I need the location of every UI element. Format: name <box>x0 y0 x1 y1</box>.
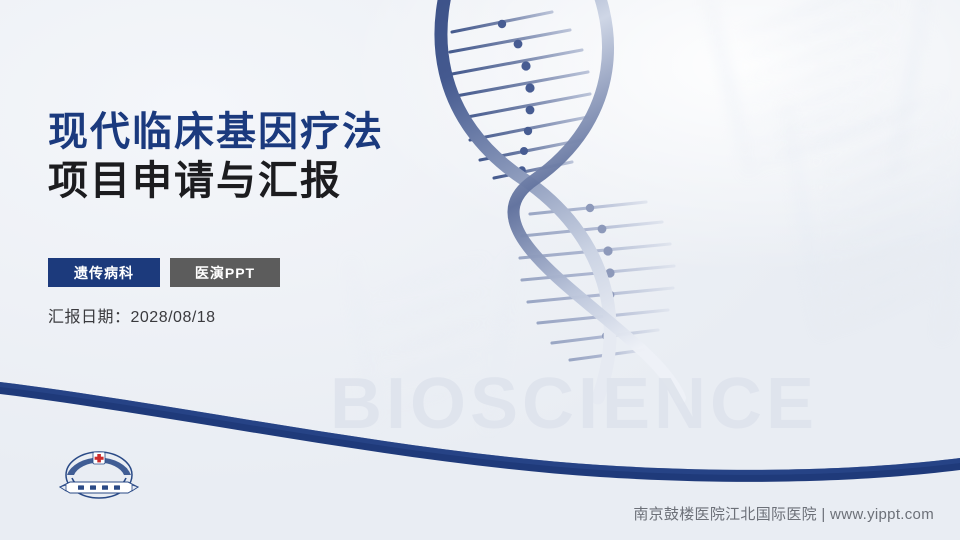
tag-badge-department[interactable]: 遗传病科 <box>48 258 160 287</box>
presentation-title-slide: BIOSCIENCE 现代临床基因疗法 项目申请与汇报 遗传病科 医演PPT 汇… <box>0 0 960 540</box>
report-date: 汇报日期：2028/08/18 <box>48 303 216 327</box>
title-line-secondary: 项目申请与汇报 <box>48 157 384 206</box>
title-line-primary: 现代临床基因疗法 <box>48 108 384 157</box>
hospital-logo <box>48 442 150 508</box>
page-title: 现代临床基因疗法 项目申请与汇报 <box>48 108 384 206</box>
background-blurred-helix-right <box>790 90 960 350</box>
tag-badge-group: 遗传病科 医演PPT <box>48 258 280 287</box>
footer-organization-and-website: 南京鼓楼医院江北国际医院 | www.yippt.com <box>633 503 934 524</box>
red-cross-icon <box>93 452 105 464</box>
tag-badge-brand[interactable]: 医演PPT <box>170 258 280 287</box>
